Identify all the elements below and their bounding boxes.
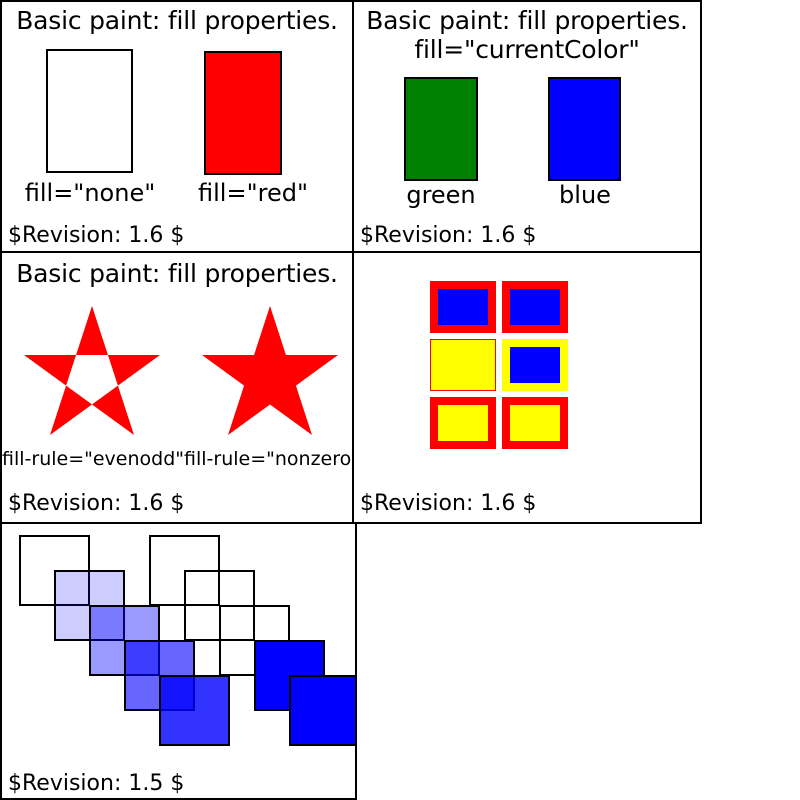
fill-opacity-square-4 bbox=[160, 676, 229, 745]
panel-opacity-graphic bbox=[2, 524, 355, 798]
grid-cell-2 bbox=[506, 285, 564, 329]
caption-fill-red: fill="red" bbox=[178, 180, 328, 206]
rect-fill-none bbox=[47, 50, 132, 172]
panel-fill-basic: Basic paint: fill properties. fill="none… bbox=[0, 0, 354, 253]
panel-fill-basic-graphic bbox=[2, 2, 352, 251]
caption-blue: blue bbox=[514, 182, 656, 208]
panel-fill-rule: Basic paint: fill properties. fill-rule=… bbox=[0, 251, 354, 524]
caption-fill-rule-nonzero: fill-rule="nonzero" bbox=[184, 446, 354, 472]
panel-current-color: Basic paint: fill properties. fill="curr… bbox=[352, 0, 702, 253]
revision-stroke-grid: $Revision: 1.6 $ bbox=[360, 492, 536, 516]
grid-cell-5 bbox=[434, 401, 492, 445]
stroke-opacity-square-4 bbox=[290, 676, 355, 745]
panel-fill-rule-graphic bbox=[2, 253, 352, 522]
rect-current-color-green bbox=[405, 78, 477, 180]
revision-fill-rule: $Revision: 1.6 $ bbox=[8, 492, 184, 516]
grid-cell-4 bbox=[506, 343, 564, 387]
panel-current-color-graphic bbox=[354, 2, 700, 251]
revision-fill-basic: $Revision: 1.6 $ bbox=[8, 224, 184, 248]
caption-green: green bbox=[361, 182, 521, 208]
caption-fill-rule-evenodd: fill-rule="evenodd" bbox=[2, 446, 184, 472]
star-evenodd bbox=[24, 306, 160, 435]
grid-cell-6 bbox=[506, 401, 564, 445]
revision-opacity: $Revision: 1.5 $ bbox=[8, 772, 184, 796]
revision-current-color: $Revision: 1.6 $ bbox=[360, 224, 536, 248]
panel-board: Basic paint: fill properties. fill="none… bbox=[0, 0, 800, 800]
panel-stroke-grid-graphic bbox=[354, 253, 700, 522]
panel-opacity: $Revision: 1.5 $ bbox=[0, 522, 357, 800]
caption-fill-none: fill="none" bbox=[2, 180, 178, 206]
panel-stroke-grid: $Revision: 1.6 $ bbox=[352, 251, 702, 524]
grid-cell-3 bbox=[431, 340, 496, 391]
star-nonzero bbox=[202, 306, 338, 435]
rect-current-color-blue bbox=[549, 78, 620, 180]
grid-cell-1 bbox=[434, 285, 492, 329]
rect-fill-red bbox=[205, 52, 281, 174]
